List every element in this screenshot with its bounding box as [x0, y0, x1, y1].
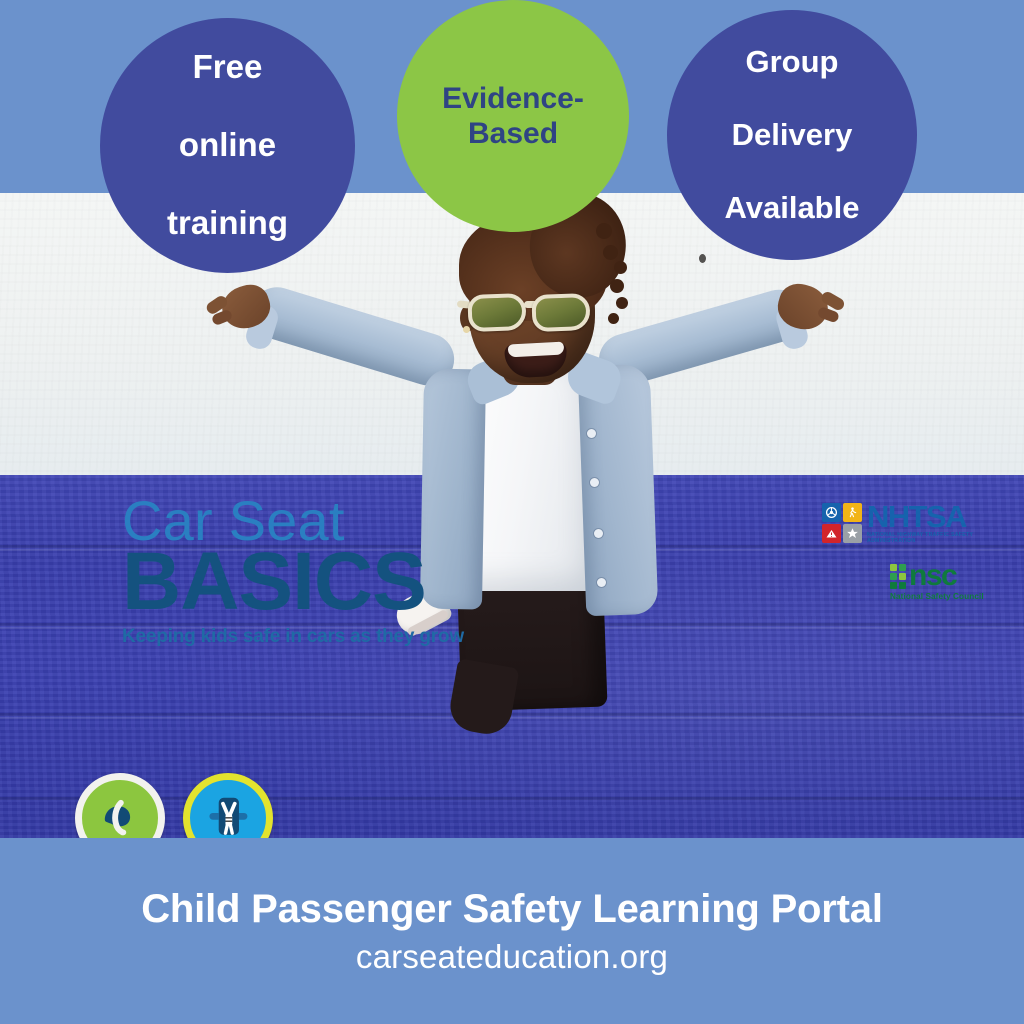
forward-facing-harness-icon[interactable]	[183, 773, 273, 838]
logo-line-2: BASICS	[122, 541, 522, 623]
sunglasses-lens-left	[467, 293, 526, 332]
hero-photo: Car Seat BASICS Keeping kids safe in car…	[0, 193, 1024, 838]
badge-evidence-based[interactable]: Evidence-Based	[397, 0, 629, 232]
child-denim-shirt-right	[578, 364, 659, 616]
shirt-button	[587, 429, 596, 438]
badge-label: Evidence-Based	[397, 81, 629, 152]
nsc-wordmark: nsc	[909, 561, 956, 591]
nsc-logo: nsc National Safety Council	[890, 561, 1000, 601]
child-hair-curl	[616, 297, 628, 309]
shirt-button	[590, 478, 599, 487]
child-arm-left	[245, 281, 461, 392]
nhtsa-wordmark-block: NHTSA NATIONAL HIGHWAY TRAFFIC SAFETY AD…	[867, 502, 997, 544]
shirt-button	[597, 578, 606, 587]
child-hair-curl	[608, 313, 619, 324]
nsc-squares-icon	[890, 564, 906, 589]
poster-root: Car Seat BASICS Keeping kids safe in car…	[0, 0, 1024, 1024]
nsc-logo-row: nsc	[890, 561, 1000, 591]
crash-icon	[822, 524, 841, 543]
star-icon	[843, 524, 862, 543]
footer-url[interactable]: carseateducation.org	[356, 938, 668, 976]
sunglasses-lens-right	[531, 293, 590, 332]
logo-tagline: Keeping kids safe in cars as they grow	[122, 627, 522, 646]
feature-badges: Freeonlinetraining Evidence-Based GroupD…	[0, 0, 1024, 270]
pedestrian-icon	[843, 503, 862, 522]
nhtsa-logo: NHTSA NATIONAL HIGHWAY TRAFFIC SAFETY AD…	[822, 501, 997, 545]
steering-wheel-icon	[822, 503, 841, 522]
rear-facing-car-seat-icon[interactable]	[75, 773, 165, 838]
nsc-subtitle: National Safety Council	[890, 592, 1000, 601]
nhtsa-wordmark: NHTSA	[867, 502, 997, 531]
car-seat-stage-icons	[75, 773, 285, 838]
badge-free-online-training[interactable]: Freeonlinetraining	[100, 18, 355, 273]
car-seat-basics-logo: Car Seat BASICS Keeping kids safe in car…	[122, 493, 522, 646]
badge-label: GroupDeliveryAvailable	[705, 44, 880, 227]
nhtsa-icon-grid	[822, 503, 862, 543]
footer-title: Child Passenger Safety Learning Portal	[141, 887, 883, 932]
badge-label: Freeonlinetraining	[147, 48, 308, 243]
nhtsa-subtitle: NATIONAL HIGHWAY TRAFFIC SAFETY ADMINIST…	[867, 532, 997, 544]
badge-group-delivery-available[interactable]: GroupDeliveryAvailable	[667, 10, 917, 260]
footer-band: Child Passenger Safety Learning Portal c…	[0, 838, 1024, 1024]
sunglasses-icon	[466, 289, 606, 333]
child-leg	[446, 658, 519, 738]
shirt-button	[594, 529, 603, 538]
child-hair-curl	[610, 279, 624, 293]
